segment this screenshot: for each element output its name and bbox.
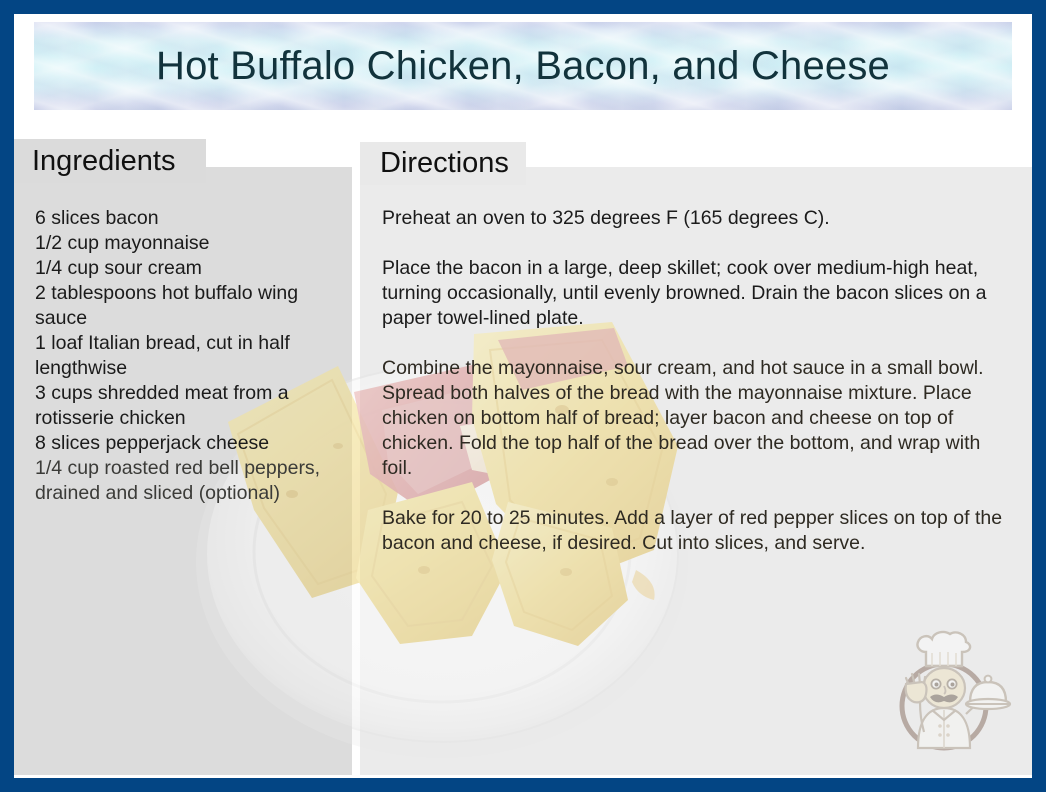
page-title: Hot Buffalo Chicken, Bacon, and Cheese <box>34 22 1012 110</box>
title-banner: Hot Buffalo Chicken, Bacon, and Cheese <box>34 22 1012 110</box>
slide-content-area: Hot Buffalo Chicken, Bacon, and Cheese <box>14 14 1032 778</box>
list-item: 1/4 cup roasted red bell peppers, draine… <box>35 456 345 506</box>
direction-step: Place the bacon in a large, deep skillet… <box>382 256 1016 331</box>
list-item: 8 slices pepperjack cheese <box>35 431 345 456</box>
direction-step: Combine the mayonnaise, sour cream, and … <box>382 356 1016 481</box>
list-item: 1 loaf Italian bread, cut in half length… <box>35 331 345 381</box>
list-item: 1/2 cup mayonnaise <box>35 231 345 256</box>
tab-directions[interactable]: Directions <box>360 142 526 185</box>
direction-step: Bake for 20 to 25 minutes. Add a layer o… <box>382 506 1016 556</box>
ingredients-list: 6 slices bacon 1/2 cup mayonnaise 1/4 cu… <box>35 206 345 506</box>
list-item: 3 cups shredded meat from a rotisserie c… <box>35 381 345 431</box>
list-item: 2 tablespoons hot buffalo wing sauce <box>35 281 345 331</box>
recipe-slide: Hot Buffalo Chicken, Bacon, and Cheese <box>0 0 1046 792</box>
chef-mascot-logo-icon <box>874 622 1014 762</box>
tab-ingredients-label: Ingredients <box>14 139 206 183</box>
tab-ingredients[interactable]: Ingredients <box>14 139 206 183</box>
list-item: 6 slices bacon <box>35 206 345 231</box>
directions-steps: Preheat an oven to 325 degrees F (165 de… <box>382 206 1016 556</box>
tab-directions-label: Directions <box>360 142 526 185</box>
list-item: 1/4 cup sour cream <box>35 256 345 281</box>
direction-step: Preheat an oven to 325 degrees F (165 de… <box>382 206 1016 231</box>
